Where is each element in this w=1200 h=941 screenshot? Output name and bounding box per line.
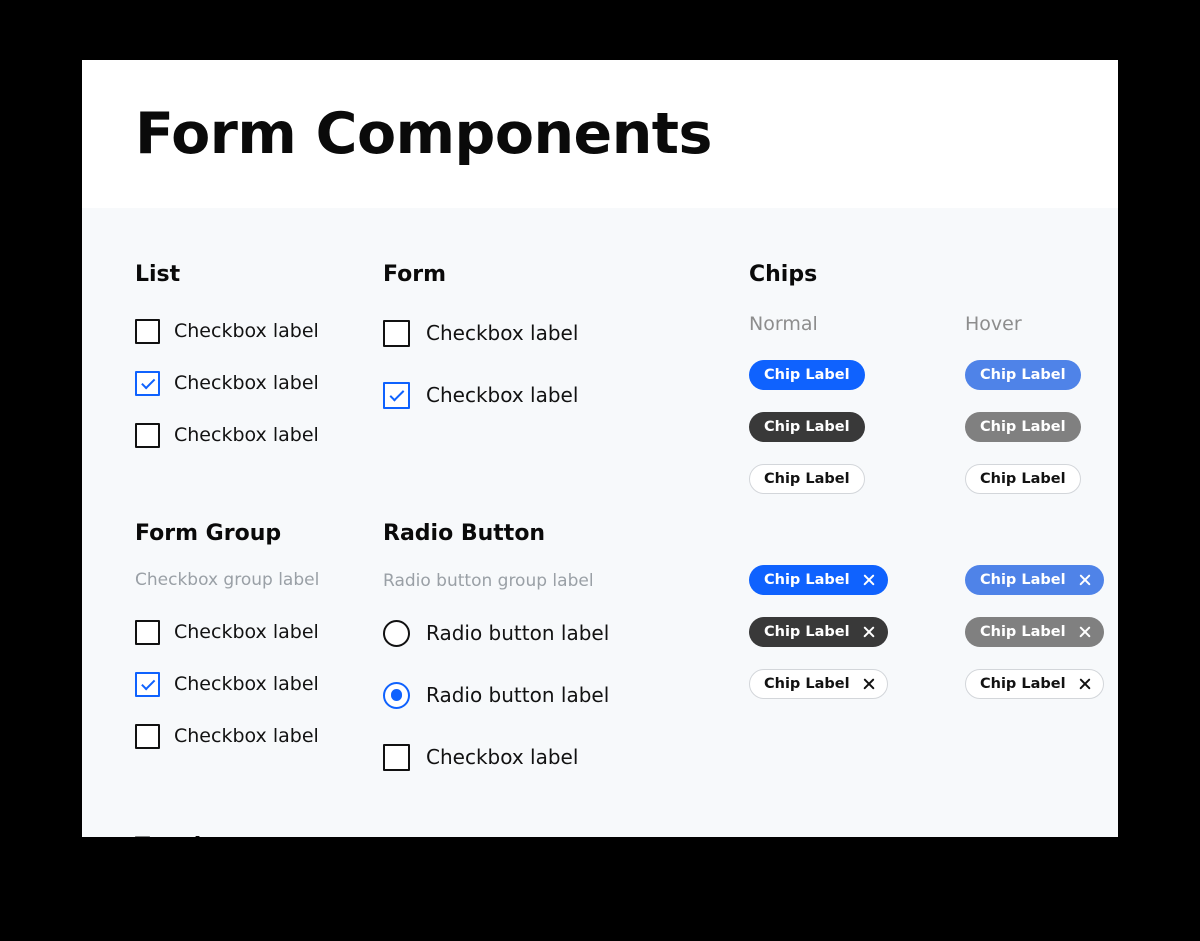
form-group-options: Checkbox label Checkbox label Checkbox l…: [135, 616, 319, 752]
checkbox-checked[interactable]: [135, 672, 160, 697]
chip-primary-hover[interactable]: Chip Label: [965, 360, 1081, 390]
radio-label: Radio button label: [426, 683, 609, 707]
chip-outline-hover[interactable]: Chip Label: [965, 464, 1081, 494]
checkbox-unchecked[interactable]: [383, 320, 410, 347]
chips-column-label-hover: Hover: [965, 315, 1022, 334]
section-title-radio-button: Radio Button: [383, 523, 609, 545]
list-options: Checkbox label Checkbox label Checkbox l…: [135, 315, 319, 451]
chip-label: Chip Label: [980, 472, 1066, 487]
clipped-section-title: Toggle: [135, 834, 216, 837]
chips-hover-dismiss: Chip Label Chip Label Chip Label: [965, 565, 1104, 699]
chip-label: Chip Label: [764, 420, 850, 435]
radio-unselected[interactable]: [383, 620, 410, 647]
chip-primary[interactable]: Chip Label: [749, 360, 865, 390]
section-title-form-group: Form Group: [135, 523, 319, 545]
close-icon[interactable]: [1079, 678, 1092, 691]
chip-label: Chip Label: [980, 573, 1066, 588]
chips-dismiss-grid: Chip Label Chip Label Chip Label: [749, 565, 817, 725]
section-title-list: List: [135, 264, 319, 286]
list-item[interactable]: Checkbox label: [135, 367, 319, 399]
close-icon[interactable]: [863, 678, 876, 691]
list-item[interactable]: Checkbox label: [135, 616, 319, 648]
chip-label: Chip Label: [764, 677, 850, 692]
section-title-form: Form: [383, 264, 578, 286]
checkbox-unchecked[interactable]: [135, 724, 160, 749]
chips-hover-plain: Chip Label Chip Label Chip Label: [965, 360, 1081, 494]
chip-primary-dismissible[interactable]: Chip Label: [749, 565, 888, 595]
radio-label: Radio button label: [426, 621, 609, 645]
chip-label: Chip Label: [980, 677, 1066, 692]
chip-primary-hover-dismissible[interactable]: Chip Label: [965, 565, 1104, 595]
close-icon[interactable]: [1079, 574, 1092, 587]
chip-label: Chip Label: [980, 420, 1066, 435]
list-item[interactable]: Checkbox label: [383, 740, 609, 774]
checkbox-label: Checkbox label: [426, 383, 578, 407]
chip-label: Chip Label: [764, 573, 850, 588]
form-components-card: Form Components List Checkbox label Chec…: [82, 60, 1118, 837]
checkbox-label: Checkbox label: [426, 321, 578, 345]
check-icon: [141, 676, 155, 690]
list-item[interactable]: Radio button label: [383, 678, 609, 712]
section-form-group: Form Group Checkbox group label Checkbox…: [135, 523, 319, 772]
checkbox-unchecked[interactable]: [135, 620, 160, 645]
close-icon[interactable]: [863, 574, 876, 587]
checkbox-label: Checkbox label: [174, 673, 319, 695]
checkbox-unchecked[interactable]: [383, 744, 410, 771]
list-item[interactable]: Checkbox label: [383, 378, 578, 412]
chips-normal-dismiss: Chip Label Chip Label Chip Label: [749, 565, 888, 699]
checkbox-unchecked[interactable]: [135, 319, 160, 344]
checkbox-label: Checkbox label: [174, 424, 319, 446]
checkbox-unchecked[interactable]: [135, 423, 160, 448]
card-header: Form Components: [82, 60, 1118, 208]
chips-column-label-normal: Normal: [749, 315, 818, 334]
chip-label: Chip Label: [764, 472, 850, 487]
checkbox-label: Checkbox label: [426, 745, 578, 769]
chip-label: Chip Label: [980, 368, 1066, 383]
chip-label: Chip Label: [980, 625, 1066, 640]
page-title: Form Components: [135, 106, 712, 163]
chips-plain-grid: Chip Label Chip Label Chip Label Chip La…: [749, 360, 817, 520]
checkbox-checked[interactable]: [135, 371, 160, 396]
list-item[interactable]: Checkbox label: [135, 419, 319, 451]
section-list: List Checkbox label Checkbox label Check…: [135, 264, 319, 471]
checkbox-group-label: Checkbox group label: [135, 572, 319, 589]
list-item[interactable]: Checkbox label: [383, 316, 578, 350]
radio-group-label: Radio button group label: [383, 573, 609, 590]
list-item[interactable]: Checkbox label: [135, 315, 319, 347]
card-body: List Checkbox label Checkbox label Check…: [82, 208, 1118, 837]
checkbox-label: Checkbox label: [174, 725, 319, 747]
chips-normal-plain: Chip Label Chip Label Chip Label: [749, 360, 865, 494]
list-item[interactable]: Radio button label: [383, 616, 609, 650]
chips-column-headers: Normal Hover: [749, 315, 817, 335]
radio-options: Radio button label Radio button label Ch…: [383, 616, 609, 774]
check-icon: [389, 386, 404, 401]
chip-outline-hover-dismissible[interactable]: Chip Label: [965, 669, 1104, 699]
chip-dark-hover-dismissible[interactable]: Chip Label: [965, 617, 1104, 647]
list-item[interactable]: Checkbox label: [135, 668, 319, 700]
checkbox-checked[interactable]: [383, 382, 410, 409]
section-chips: Chips Normal Hover Chip Label Chip Label: [749, 264, 817, 725]
chip-dark-hover[interactable]: Chip Label: [965, 412, 1081, 442]
close-icon[interactable]: [1079, 626, 1092, 639]
section-title-chips: Chips: [749, 264, 817, 286]
chip-dark[interactable]: Chip Label: [749, 412, 865, 442]
check-icon: [141, 375, 155, 389]
section-form: Form Checkbox label Checkbox label: [383, 264, 578, 440]
chip-outline[interactable]: Chip Label: [749, 464, 865, 494]
checkbox-label: Checkbox label: [174, 320, 319, 342]
list-item[interactable]: Checkbox label: [135, 720, 319, 752]
checkbox-label: Checkbox label: [174, 621, 319, 643]
close-icon[interactable]: [863, 626, 876, 639]
radio-selected[interactable]: [383, 682, 410, 709]
chip-dark-dismissible[interactable]: Chip Label: [749, 617, 888, 647]
chip-label: Chip Label: [764, 368, 850, 383]
checkbox-label: Checkbox label: [174, 372, 319, 394]
section-radio-button: Radio Button Radio button group label Ra…: [383, 523, 609, 802]
radio-dot-icon: [391, 689, 403, 701]
form-options: Checkbox label Checkbox label: [383, 316, 578, 412]
screenshot-root: Form Components List Checkbox label Chec…: [0, 0, 1200, 941]
chip-outline-dismissible[interactable]: Chip Label: [749, 669, 888, 699]
chip-label: Chip Label: [764, 625, 850, 640]
